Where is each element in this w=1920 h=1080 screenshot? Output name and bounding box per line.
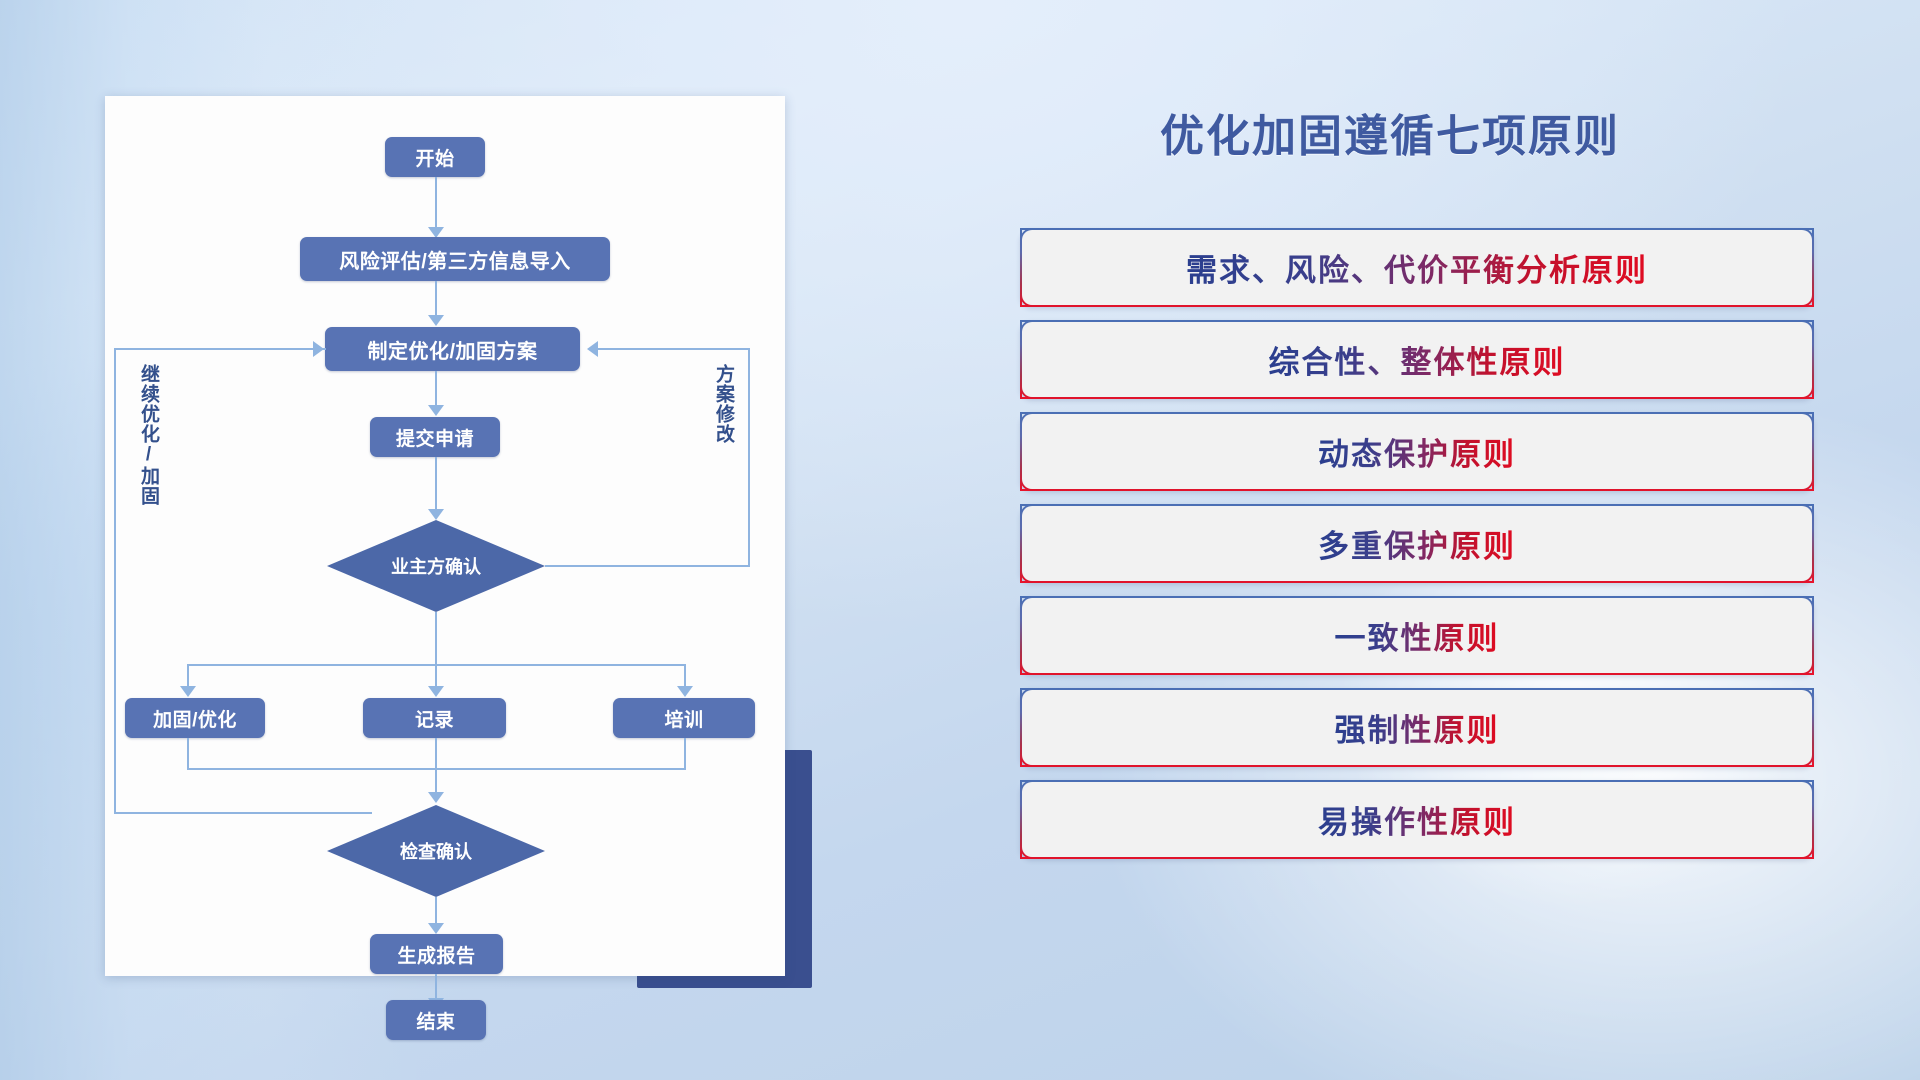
- connector-owner-down: [435, 612, 437, 666]
- flow-decision-inspection[interactable]: 检查确认: [327, 805, 545, 897]
- arrow-loop-left-into-plan-icon: [313, 341, 324, 357]
- arrow-loop-right-into-plan-icon: [587, 341, 598, 357]
- merge-left-line: [187, 738, 189, 770]
- arrow-branch-train-icon: [677, 686, 693, 697]
- flow-node-start[interactable]: 开始: [385, 137, 485, 177]
- flow-node-submit-application[interactable]: 提交申请: [370, 417, 500, 457]
- loop-right-top-line: [598, 348, 750, 350]
- principle-card-4[interactable]: 多重保护原则: [1020, 504, 1814, 583]
- principle-label-1: 需求、风险、代价平衡分析原则: [1186, 245, 1648, 290]
- flow-node-make-plan[interactable]: 制定优化/加固方案: [325, 327, 580, 371]
- principle-label-5: 一致性原则: [1335, 613, 1500, 658]
- principles-list: 需求、风险、代价平衡分析原则 综合性、整体性原则 动态保护原则 多重保护原则 一…: [1020, 228, 1820, 872]
- loop-right-vertical-line: [748, 348, 750, 567]
- principle-label-6: 强制性原则: [1335, 705, 1500, 750]
- arrow-check-report-icon: [428, 923, 444, 934]
- panel-title: 优化加固遵循七项原则: [1160, 100, 1620, 164]
- principle-label-3: 动态保护原则: [1318, 429, 1516, 474]
- principle-card-1[interactable]: 需求、风险、代价平衡分析原则: [1020, 228, 1814, 307]
- flow-node-reinforce-optimize[interactable]: 加固/优化: [125, 698, 265, 738]
- loop-left-bottom-line: [114, 812, 372, 814]
- loop-left-top-line: [114, 348, 326, 350]
- arrow-submit-owner-icon: [428, 509, 444, 520]
- principles-panel: 优化加固遵循七项原则 需求、风险、代价平衡分析原则 综合性、整体性原则 动态保护…: [1020, 0, 1920, 1080]
- flowchart-card: 开始 风险评估/第三方信息导入 制定优化/加固方案 提交申请 业主方确认 继续优…: [105, 96, 785, 976]
- principle-label-7: 易操作性原则: [1318, 797, 1516, 842]
- flow-decision-owner-approval[interactable]: 业主方确认: [327, 520, 545, 612]
- loop-left-label: 继续优化/加固: [135, 364, 162, 506]
- principle-card-2[interactable]: 综合性、整体性原则: [1020, 320, 1814, 399]
- principle-card-5[interactable]: 一致性原则: [1020, 596, 1814, 675]
- loop-right-label: 方案修改: [710, 364, 737, 444]
- principle-card-6[interactable]: 强制性原则: [1020, 688, 1814, 767]
- principle-label-4: 多重保护原则: [1318, 521, 1516, 566]
- loop-left-vertical-line: [114, 348, 116, 814]
- flow-node-risk-assessment[interactable]: 风险评估/第三方信息导入: [300, 237, 610, 281]
- arrow-branch-reinforce-icon: [180, 686, 196, 697]
- arrow-risk-plan-icon: [428, 315, 444, 326]
- connector-submit-owner: [435, 457, 437, 517]
- loop-right-bottom-line: [545, 565, 750, 567]
- flow-node-generate-report[interactable]: 生成报告: [370, 934, 503, 974]
- principle-card-3[interactable]: 动态保护原则: [1020, 412, 1814, 491]
- flow-node-record[interactable]: 记录: [363, 698, 506, 738]
- flow-node-end[interactable]: 结束: [386, 1000, 486, 1040]
- principle-card-7[interactable]: 易操作性原则: [1020, 780, 1814, 859]
- slide-root: 开始 风险评估/第三方信息导入 制定优化/加固方案 提交申请 业主方确认 继续优…: [0, 0, 1920, 1080]
- connector-merge-check: [435, 738, 437, 798]
- arrow-branch-record-icon: [428, 686, 444, 697]
- flow-node-training[interactable]: 培训: [613, 698, 755, 738]
- arrow-merge-check-icon: [428, 792, 444, 803]
- merge-right-line: [684, 738, 686, 770]
- arrow-plan-submit-icon: [428, 405, 444, 416]
- principle-label-2: 综合性、整体性原则: [1269, 337, 1566, 382]
